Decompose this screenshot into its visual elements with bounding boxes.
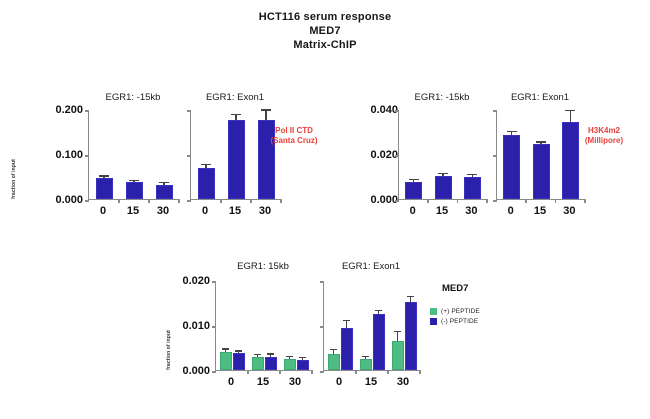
chart-bar [284,359,296,370]
error-bar-cap [129,180,139,181]
error-bar [225,350,226,353]
x-axis-tick-label: 30 [289,376,301,388]
legend-med7: MED7 (+) PEPTIDE(-) PEPTIDE [430,283,480,328]
subpanel-plot [215,281,311,371]
error-bar-cap [261,109,271,110]
error-bar-cap [409,179,419,180]
error-bar-cap [438,173,448,174]
error-bar-cap [159,182,169,183]
chart-bar [464,177,481,200]
x-axis-tick-label: 15 [257,376,269,388]
x-tick-mark [247,370,249,374]
error-bar-cap [267,353,274,354]
y-tick-mark [85,110,89,112]
annotation-pol2-line1: Pol II CTD [258,126,330,136]
panel-h3k4m2: 0.0400.0200.000 EGR1: -15kb01530EGR1: Ex… [330,88,650,228]
error-bar [378,311,379,314]
error-bar [133,181,134,182]
error-bar [472,175,473,176]
error-bar-cap [362,356,369,357]
error-bar-cap [394,331,401,332]
y-axis-tick-label: 0.000 [370,194,398,206]
chart-bar [252,357,264,370]
error-bar-cap [201,164,211,165]
chart-bar [156,185,173,199]
subpanel-title: EGR1: Exon1 [496,92,584,103]
y-tick-mark [212,281,216,283]
error-bar [413,180,414,182]
x-axis-tick-label: 30 [157,205,169,217]
error-bar [442,174,443,176]
subpanel-plot [88,110,178,200]
error-bar [346,321,347,328]
error-bar-cap [467,174,477,175]
error-bar [302,358,303,359]
subpanel-plot [190,110,280,200]
x-tick-mark [525,199,527,203]
error-bar [397,332,398,340]
y-axis-title-pol2: fraction of input [11,149,17,209]
error-bar-cap [507,131,517,132]
y-tick-mark [395,155,399,157]
chart-bar [328,354,340,370]
x-axis-tick-label: 15 [365,376,377,388]
legend-item-label: (-) PEPTIDE [441,318,478,325]
y-tick-mark [493,155,497,157]
annotation-pol2: Pol II CTD (Santa Cruz) [258,126,330,146]
title-line-1: HCT116 serum response [0,10,650,24]
error-bar [270,355,271,357]
chart-bar [405,182,422,199]
x-tick-mark [387,370,389,374]
x-tick-mark [279,370,281,374]
figure-title: HCT116 serum response MED7 Matrix-ChIP [0,10,650,52]
annotation-h3k4m2: H3K4m2 (Millipore) [564,126,644,146]
chart-bar [392,341,404,370]
error-bar [103,177,104,178]
error-bar [265,111,266,121]
error-bar-cap [231,114,241,115]
error-bar-cap [407,296,414,297]
chart-bar [126,182,143,199]
error-bar-cap [299,357,306,358]
error-bar [540,143,541,145]
x-axis-tick-label: 15 [229,205,241,217]
x-tick-mark [250,199,252,203]
title-line-3: Matrix-ChIP [0,38,650,52]
x-tick-mark [419,370,421,374]
panel-med7: fraction of input 0.0200.0100.000 EGR1: … [155,255,650,415]
error-bar [410,297,411,302]
y-tick-mark [395,200,399,202]
error-bar-cap [222,348,229,349]
error-bar [163,183,164,185]
chart-bar [198,168,215,199]
x-axis-tick-label: 15 [127,205,139,217]
y-tick-mark [212,326,216,328]
y-tick-mark [85,155,89,157]
chart-bar [233,353,245,370]
y-axis-tick-label: 0.010 [182,320,210,332]
x-axis-tick-label: 0 [228,376,234,388]
chart-bar [220,352,232,370]
x-axis-tick-label: 0 [100,205,106,217]
subpanel-plot [496,110,584,200]
x-axis-tick-label: 0 [202,205,208,217]
x-tick-mark [355,370,357,374]
chart-bar [341,328,353,370]
error-bar-cap [343,320,350,321]
y-tick-mark [395,110,399,112]
y-tick-mark [320,371,324,373]
y-tick-mark [187,110,191,112]
x-tick-mark [280,199,282,203]
x-axis-tick-label: 15 [436,205,448,217]
subpanel-title: EGR1: Exon1 [323,261,419,272]
chart-bar [228,120,245,199]
error-bar [235,115,236,120]
y-axis-tick-label: 0.020 [182,275,210,287]
x-axis-tick-label: 0 [410,205,416,217]
y-tick-mark [212,371,216,373]
error-bar [238,352,239,354]
x-tick-mark [457,199,459,203]
y-axis-tick-label: 0.000 [55,194,83,206]
y-tick-mark [320,281,324,283]
x-tick-mark [311,370,313,374]
chart-bar [503,135,520,199]
error-bar [365,357,366,358]
subpanel-plot [398,110,486,200]
title-line-2: MED7 [0,24,650,38]
chart-bar [373,314,385,370]
legend-item: (-) PEPTIDE [430,318,480,325]
error-bar [257,355,258,357]
y-tick-mark [493,200,497,202]
y-axis-tick-label: 0.100 [55,149,83,161]
error-bar [333,350,334,354]
y-axis-tick-label: 0.200 [55,104,83,116]
figure-canvas: HCT116 serum response MED7 Matrix-ChIP f… [0,0,650,419]
chart-bar [96,178,113,199]
subpanel-title: EGR1: Exon1 [190,92,280,103]
error-bar [289,357,290,359]
annotation-h3k4m2-line2: (Millipore) [564,136,644,146]
legend-item-label: (+) PEPTIDE [441,308,480,315]
x-tick-mark [427,199,429,203]
legend-item: (+) PEPTIDE [430,308,480,315]
x-tick-mark [220,199,222,203]
x-axis-tick-label: 0 [508,205,514,217]
panel-pol2-ctd: fraction of input 0.2000.1000.000 EGR1: … [0,88,330,228]
x-tick-mark [584,199,586,203]
error-bar-cap [330,349,337,350]
legend-color-swatch [430,318,437,325]
subpanel-title: EGR1: -15kb [398,92,486,103]
y-axis-title-med7: fraction of input [166,320,172,380]
error-bar-cap [235,350,242,351]
x-tick-mark [486,199,488,203]
error-bar-cap [99,175,109,176]
legend-color-swatch [430,308,437,315]
y-axis-tick-label: 0.020 [370,149,398,161]
y-axis-tick-label: 0.000 [182,365,210,377]
x-axis-tick-label: 30 [465,205,477,217]
chart-bar [435,176,452,199]
error-bar-cap [536,141,546,142]
chart-bar [533,144,550,199]
annotation-pol2-line2: (Santa Cruz) [258,136,330,146]
chart-bar [265,357,277,370]
y-tick-mark [187,155,191,157]
x-axis-tick-label: 30 [563,205,575,217]
error-bar [205,165,206,168]
chart-bar [297,360,309,370]
annotation-h3k4m2-line1: H3K4m2 [564,126,644,136]
x-axis-tick-label: 0 [336,376,342,388]
y-tick-mark [85,200,89,202]
error-bar [511,132,512,135]
chart-bar [405,302,417,370]
x-tick-mark [118,199,120,203]
x-tick-mark [148,199,150,203]
y-tick-mark [493,110,497,112]
error-bar-cap [286,356,293,357]
subpanel-plot [323,281,419,371]
x-tick-mark [555,199,557,203]
x-axis-tick-label: 30 [397,376,409,388]
x-axis-tick-label: 15 [534,205,546,217]
legend-items: (+) PEPTIDE(-) PEPTIDE [430,308,480,325]
y-tick-mark [320,326,324,328]
error-bar-cap [375,310,382,311]
subpanel-title: EGR1: 15kb [215,261,311,272]
error-bar [570,111,571,122]
legend-title: MED7 [430,283,480,294]
x-axis-tick-label: 30 [259,205,271,217]
error-bar-cap [565,110,575,111]
error-bar-cap [254,354,261,355]
subpanel-title: EGR1: -15kb [88,92,178,103]
chart-bar [360,359,372,370]
x-tick-mark [178,199,180,203]
y-tick-mark [187,200,191,202]
y-axis-tick-label: 0.040 [370,104,398,116]
